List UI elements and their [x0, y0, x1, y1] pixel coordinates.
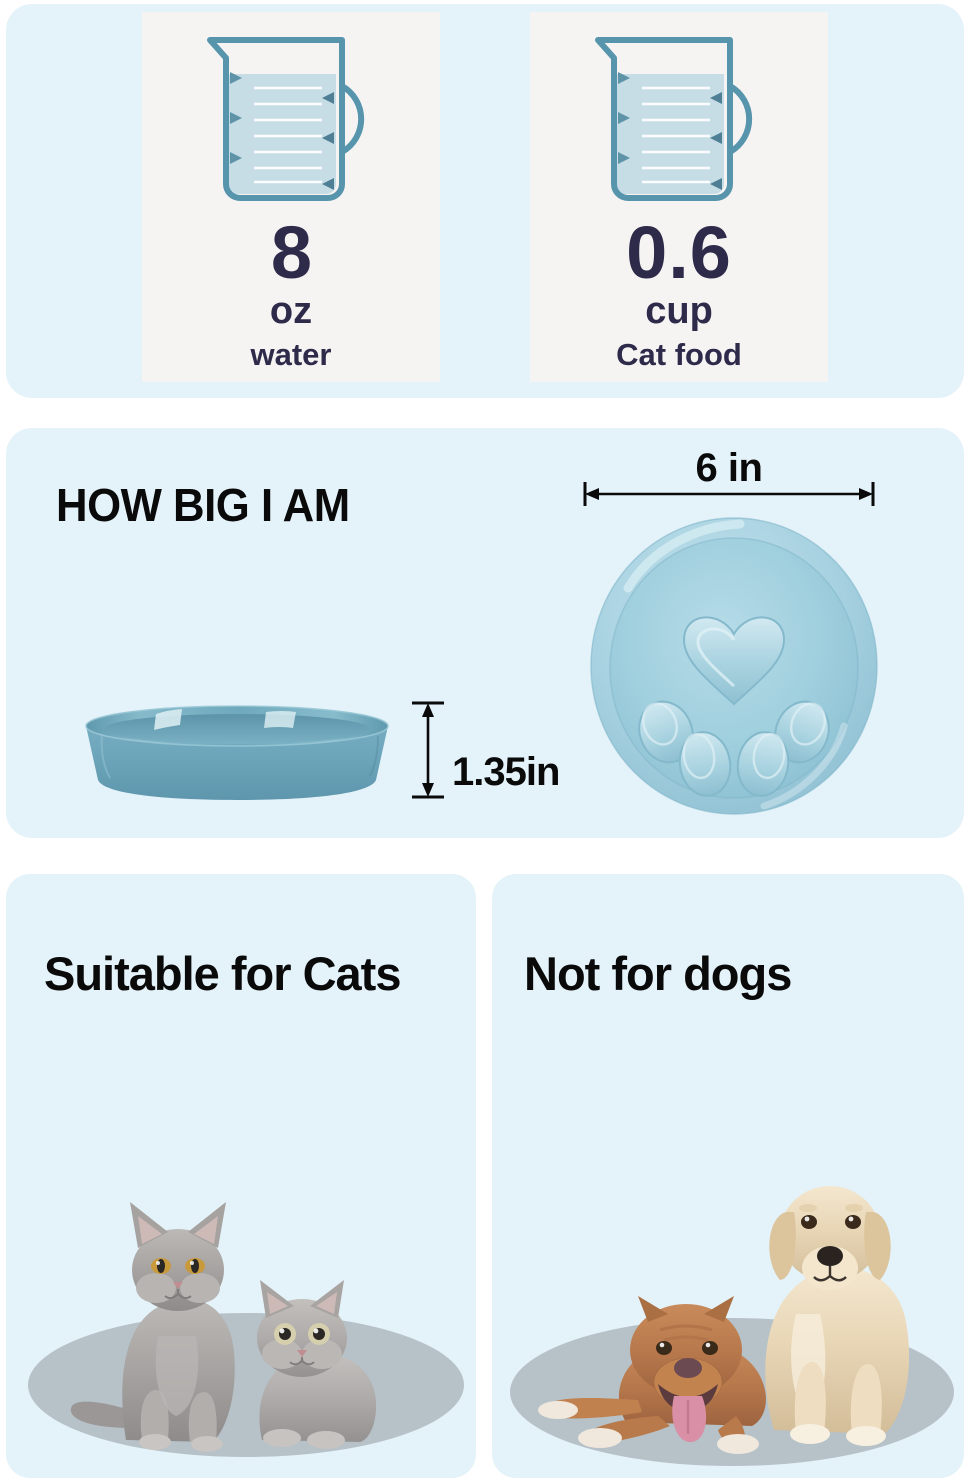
infographic-page: 8 oz water [0, 0, 970, 1484]
size-heading: HOW BIG I AM [56, 478, 350, 532]
measuring-cup-icon [196, 26, 386, 216]
amount-value-cat-food: 0.6 [626, 218, 732, 288]
width-dimension-arrow [582, 482, 876, 506]
height-dimension-arrow [410, 700, 446, 800]
amount-value-water: 8 [271, 218, 311, 288]
amount-unit-water: oz [270, 292, 312, 332]
amount-label-water: water [251, 338, 332, 372]
pitbull-and-golden-retriever-photo [508, 1100, 956, 1468]
amount-unit-cat-food: cup [645, 292, 713, 332]
bowl-side-view-icon [78, 700, 396, 804]
two-grey-cats-photo [26, 1140, 466, 1460]
amount-label-cat-food: Cat food [616, 338, 742, 372]
measure-panel-cat-food: 0.6 cup Cat food [530, 12, 828, 382]
not-for-dogs-title: Not for dogs [524, 944, 944, 1004]
measure-panel-water: 8 oz water [142, 12, 440, 382]
feeding-amounts-card: 8 oz water [6, 4, 964, 398]
suitable-for-cats-title: Suitable for Cats [44, 944, 444, 1004]
measuring-cup-icon [584, 26, 774, 216]
height-dimension-label: 1.35in [452, 750, 559, 795]
bowl-top-view-slow-feeder-icon [588, 516, 880, 816]
